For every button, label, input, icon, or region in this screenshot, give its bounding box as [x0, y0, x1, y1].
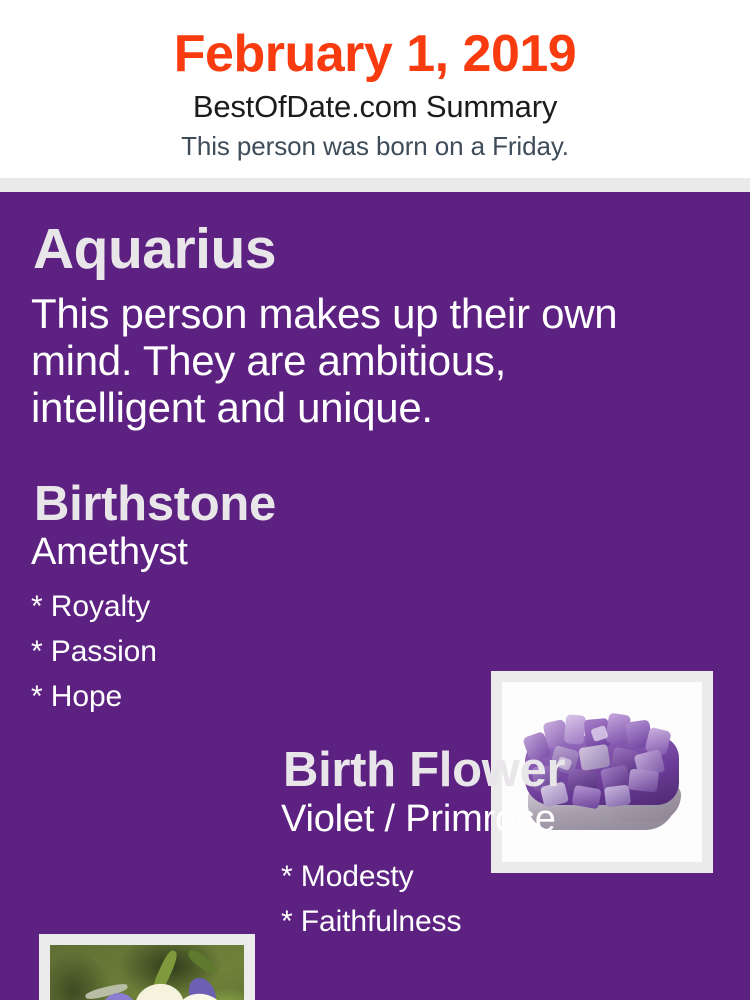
zodiac-description: This person makes up their own mind. The… — [31, 290, 681, 431]
summary-card: February 1, 2019 BestOfDate.com Summary … — [0, 0, 750, 1000]
birth-flower-name: Violet / Primrose — [281, 797, 556, 841]
list-item: * Faithfulness — [281, 899, 711, 944]
list-item: * Passion — [31, 629, 451, 674]
date-title: February 1, 2019 — [0, 24, 750, 84]
birthstone-section-title: Birthstone — [34, 476, 276, 532]
birthstone-trait-list: * Royalty * Passion * Hope — [31, 584, 451, 719]
details-panel: Aquarius This person makes up their own … — [0, 192, 750, 1000]
birth-flower-section-title: Birth Flower — [283, 742, 565, 798]
birth-flower-trait-list: * Modesty * Faithfulness — [281, 854, 711, 944]
header: February 1, 2019 BestOfDate.com Summary … — [0, 0, 750, 178]
list-item: * Hope — [31, 674, 451, 719]
violet-primrose-photo — [50, 945, 244, 1000]
zodiac-sign-title: Aquarius — [33, 217, 276, 281]
born-day-line: This person was born on a Friday. — [0, 130, 750, 163]
header-divider — [0, 178, 750, 192]
list-item: * Royalty — [31, 584, 451, 629]
birth-flower-photo-frame — [39, 934, 255, 1000]
site-summary-label: BestOfDate.com Summary — [0, 88, 750, 126]
birthstone-name: Amethyst — [31, 530, 188, 574]
list-item: * Modesty — [281, 854, 711, 899]
